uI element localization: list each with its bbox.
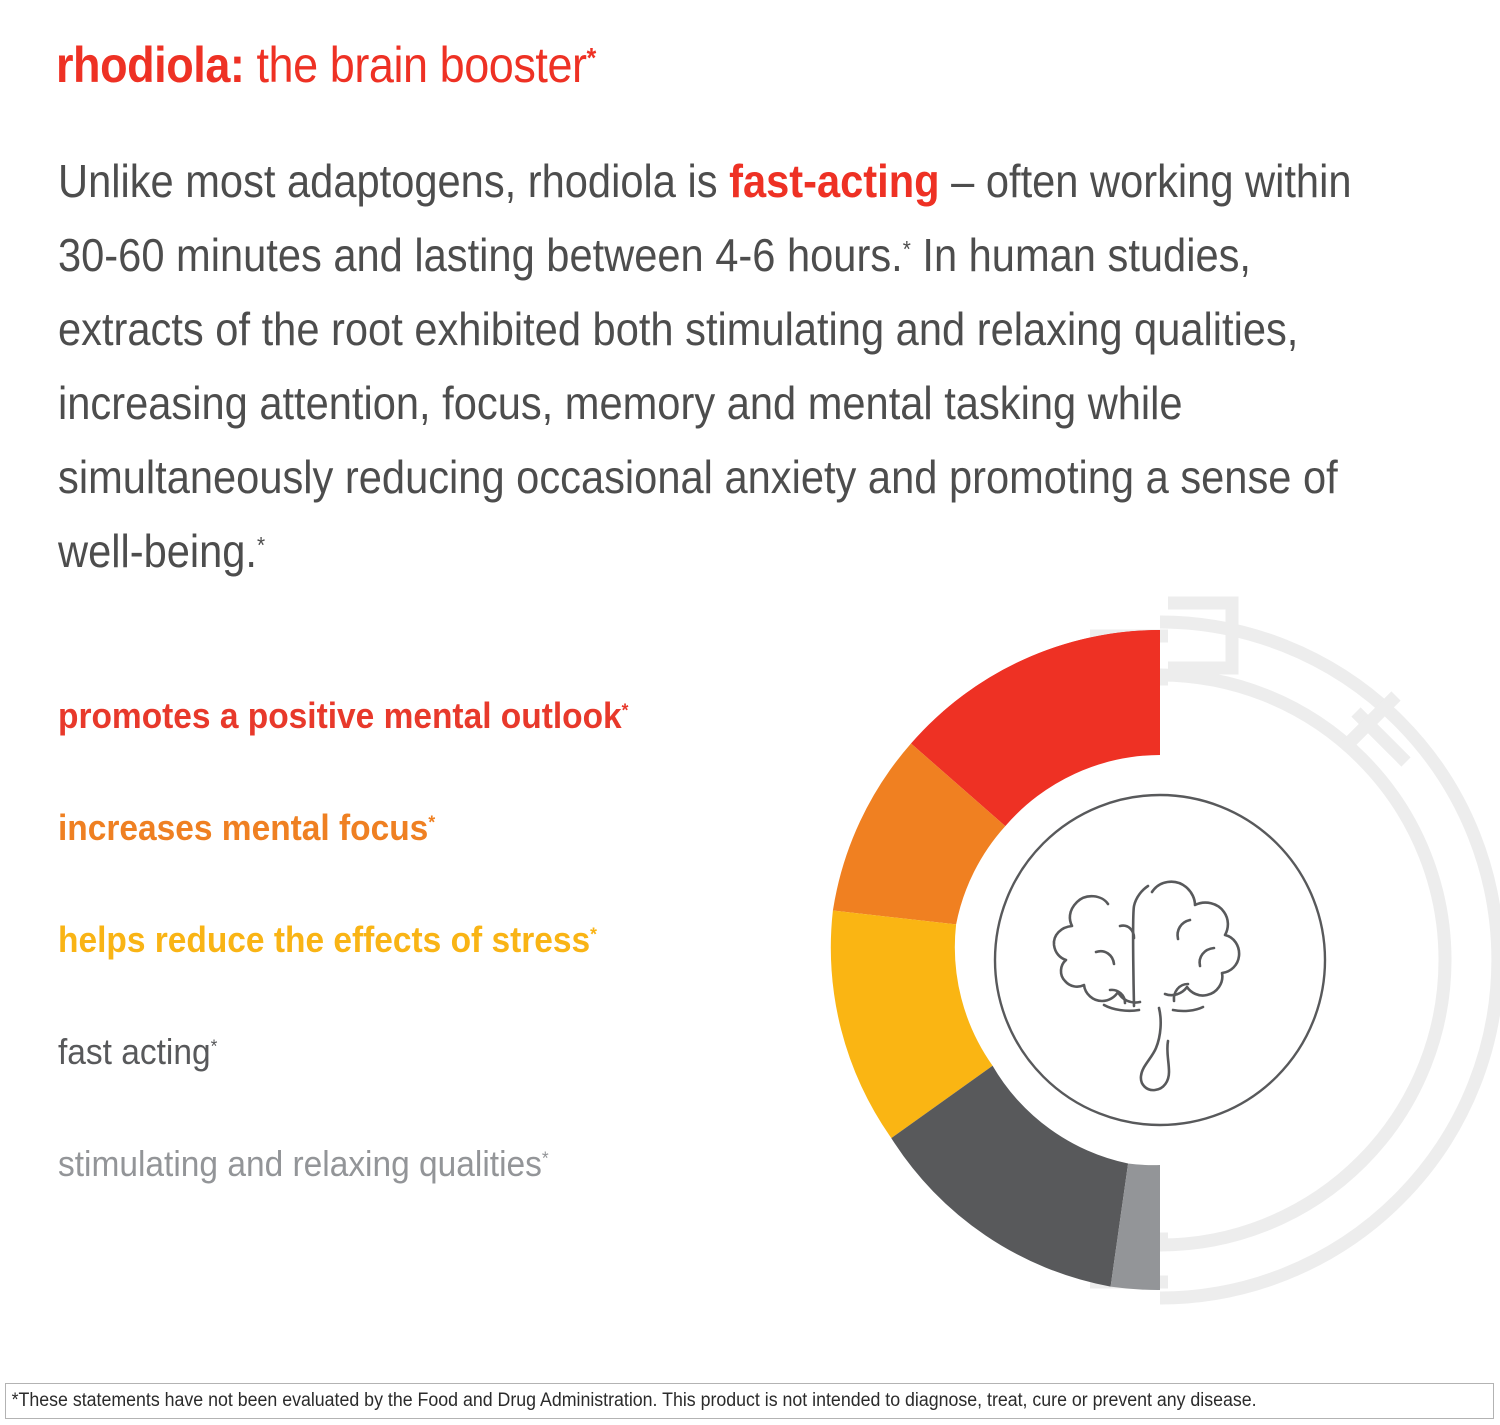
benefit-asterisk: * bbox=[622, 699, 629, 720]
benefit-label: increases mental focus bbox=[58, 807, 428, 848]
fda-disclaimer-box: *These statements have not been evaluate… bbox=[5, 1383, 1494, 1419]
benefit-asterisk: * bbox=[428, 811, 435, 832]
page-root: rhodiola: the brain booster* Unlike most… bbox=[0, 0, 1500, 1425]
page-title-asterisk: * bbox=[587, 41, 596, 72]
benefit-label: stimulating and relaxing qualities bbox=[58, 1143, 542, 1184]
benefit-item-stress: helps reduce the effects of stress* bbox=[58, 918, 830, 1030]
intro-part3: In human studies, extracts of the root e… bbox=[58, 229, 1338, 577]
benefit-asterisk: * bbox=[590, 923, 597, 944]
benefit-label: promotes a positive mental outlook bbox=[58, 695, 622, 736]
benefit-list: promotes a positive mental outlook* incr… bbox=[58, 694, 888, 1254]
intro-asterisk-2: * bbox=[257, 532, 265, 558]
benefit-item-fast-acting: fast acting* bbox=[58, 1030, 830, 1142]
intro-accent-fast-acting: fast-acting bbox=[729, 155, 939, 207]
intro-part1: Unlike most adaptogens, rhodiola is bbox=[58, 155, 729, 207]
benefit-item-outlook: promotes a positive mental outlook* bbox=[58, 694, 830, 806]
donut-svg bbox=[790, 560, 1500, 1360]
donut-graphic bbox=[790, 560, 1500, 1360]
benefit-asterisk: * bbox=[211, 1035, 218, 1056]
page-title-strong: rhodiola: bbox=[56, 37, 244, 93]
benefit-item-focus: increases mental focus* bbox=[58, 806, 830, 918]
benefit-label: fast acting bbox=[58, 1031, 211, 1072]
benefit-label: helps reduce the effects of stress bbox=[58, 919, 590, 960]
benefit-item-stimulating-relaxing: stimulating and relaxing qualities* bbox=[58, 1142, 830, 1254]
brain-outer-circle bbox=[995, 795, 1325, 1125]
fda-disclaimer-text: *These statements have not been evaluate… bbox=[6, 1390, 1257, 1412]
benefit-asterisk: * bbox=[542, 1147, 549, 1168]
page-title: rhodiola: the brain booster* bbox=[56, 36, 596, 94]
page-title-rest: the brain booster bbox=[244, 37, 586, 93]
intro-paragraph: Unlike most adaptogens, rhodiola is fast… bbox=[58, 144, 1375, 588]
